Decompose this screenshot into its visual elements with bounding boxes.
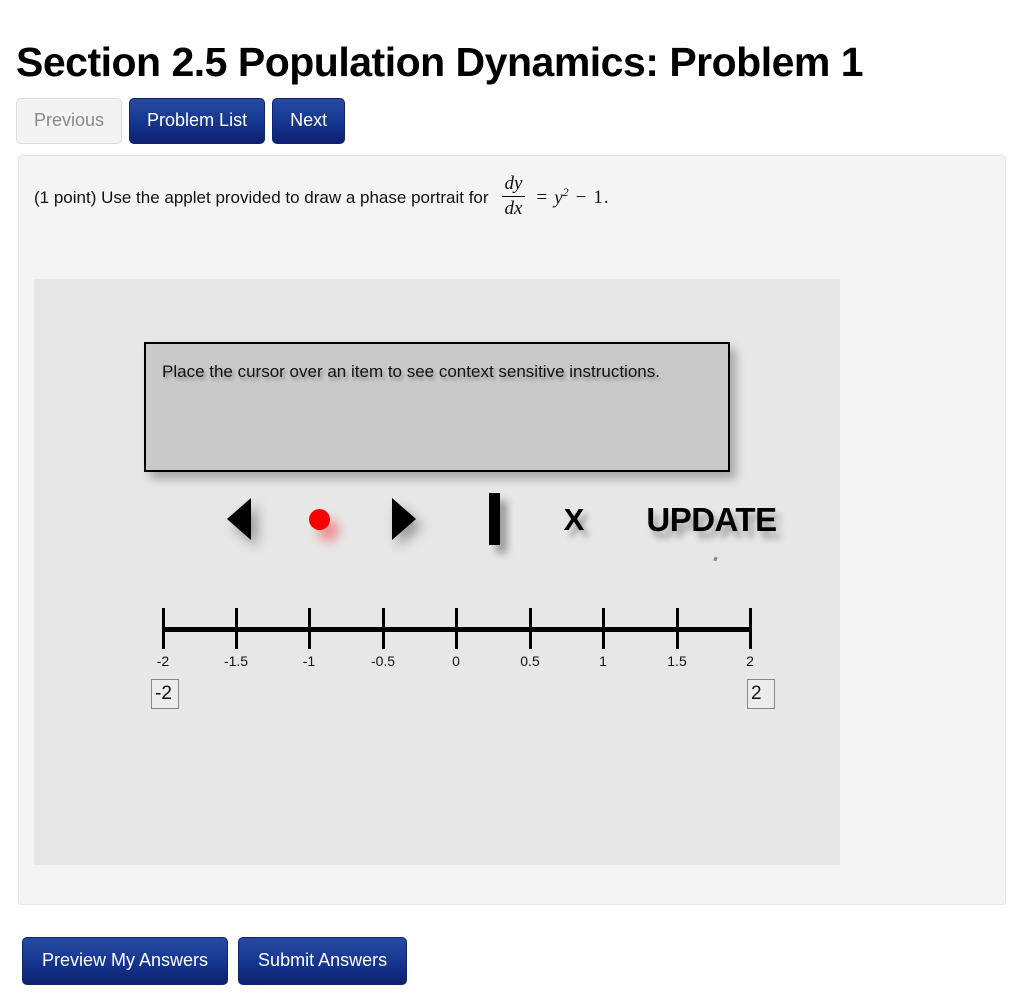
- minus-sign: −: [576, 187, 587, 209]
- number-line-tick: [749, 608, 752, 649]
- left-arrow-tool[interactable]: [204, 484, 274, 554]
- equation-variable: y2: [554, 185, 568, 209]
- number-line[interactable]: -2 -1.5 -1 -0.5 0 0.5 1 1.5 2 -2 2: [34, 599, 840, 739]
- instruction-text: Place the cursor over an item to see con…: [162, 360, 692, 384]
- x-icon: X: [564, 504, 585, 535]
- preview-my-answers-button[interactable]: Preview My Answers: [22, 937, 228, 985]
- next-button[interactable]: Next: [272, 98, 345, 144]
- phase-portrait-applet[interactable]: Place the cursor over an item to see con…: [34, 279, 840, 865]
- right-arrow-tool[interactable]: [369, 484, 439, 554]
- equation-constant: 1: [593, 187, 603, 209]
- previous-button[interactable]: Previous: [16, 98, 122, 144]
- submit-answers-button[interactable]: Submit Answers: [238, 937, 407, 985]
- number-line-tick: [529, 608, 532, 649]
- red-dot-icon: [309, 509, 330, 530]
- number-line-tick: [162, 608, 165, 649]
- delete-x-tool[interactable]: X: [539, 484, 609, 554]
- number-line-max-input[interactable]: 2: [747, 679, 775, 709]
- number-line-label: 0: [452, 653, 460, 669]
- problem-panel: (1 point) Use the applet provided to dra…: [18, 155, 1006, 905]
- number-line-label: -1.5: [224, 653, 248, 669]
- instruction-box: Place the cursor over an item to see con…: [144, 342, 730, 472]
- number-line-tick: [308, 608, 311, 649]
- differential-equation: dy dx = y2 − 1 .: [498, 174, 609, 221]
- number-line-tick: [676, 608, 679, 649]
- number-line-tick: [602, 608, 605, 649]
- red-dot-tool[interactable]: [284, 484, 354, 554]
- answer-actions: Preview My Answers Submit Answers: [22, 937, 407, 985]
- number-line-label: -1: [303, 653, 315, 669]
- problem-list-button[interactable]: Problem List: [129, 98, 265, 144]
- vertical-bar-icon: [489, 493, 500, 545]
- number-line-min-input[interactable]: -2: [151, 679, 179, 709]
- page-root: Section 2.5 Population Dynamics: Problem…: [0, 0, 1024, 996]
- vertical-bar-tool[interactable]: [459, 484, 529, 554]
- left-arrow-icon: [227, 498, 251, 540]
- fraction-numerator: dy: [502, 173, 526, 196]
- number-line-label: 2: [746, 653, 754, 669]
- problem-statement: (1 point) Use the applet provided to dra…: [34, 174, 609, 221]
- equation-period: .: [604, 187, 609, 209]
- page-title: Section 2.5 Population Dynamics: Problem…: [16, 39, 863, 86]
- update-button[interactable]: UPDATE: [624, 484, 799, 554]
- equation-exponent: 2: [563, 185, 569, 199]
- number-line-label: -2: [157, 653, 169, 669]
- update-label: UPDATE: [646, 503, 776, 536]
- fraction-denominator: dx: [502, 196, 526, 220]
- number-line-label: 0.5: [520, 653, 539, 669]
- problem-text: (1 point) Use the applet provided to dra…: [34, 188, 489, 208]
- right-arrow-icon: [392, 498, 416, 540]
- cursor-speck: [713, 557, 717, 562]
- equals-sign: =: [536, 187, 547, 209]
- number-line-tick: [382, 608, 385, 649]
- number-line-label: -0.5: [371, 653, 395, 669]
- problem-navigation: Previous Problem List Next: [16, 98, 345, 144]
- applet-toolbar: X UPDATE: [34, 484, 840, 564]
- number-line-label: 1.5: [667, 653, 686, 669]
- number-line-tick: [455, 608, 458, 649]
- number-line-label: 1: [599, 653, 607, 669]
- derivative-fraction: dy dx: [502, 173, 526, 220]
- number-line-tick: [235, 608, 238, 649]
